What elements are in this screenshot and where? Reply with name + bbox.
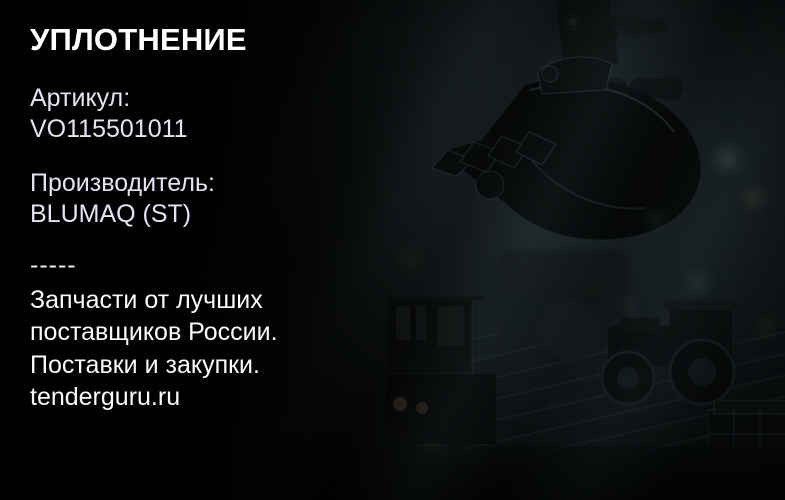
machinery-silhouette <box>708 400 785 500</box>
tagline-line: Запчасти от лучших <box>30 284 450 317</box>
divider: ----- <box>30 253 450 278</box>
tagline: Запчасти от лучших поставщиков России. П… <box>30 284 450 414</box>
article-label: Артикул: <box>30 83 450 115</box>
bokeh-light <box>688 272 708 292</box>
card-content: УПЛОТНЕНИЕ Артикул: VO115501011 Производ… <box>30 24 450 414</box>
bokeh-light <box>648 212 662 226</box>
manufacturer-field: Производитель: BLUMAQ (ST) <box>30 168 450 231</box>
bokeh-light <box>716 148 738 170</box>
tagline-line: поставщиков России. <box>30 316 450 349</box>
machinery-silhouette <box>0 446 785 500</box>
excavator-bucket-icon <box>430 0 760 260</box>
manufacturer-label: Производитель: <box>30 168 450 200</box>
page-title: УПЛОТНЕНИЕ <box>30 24 450 57</box>
article-value: VO115501011 <box>30 114 450 146</box>
wheel-loader-wheel <box>540 300 600 360</box>
product-banner-card: УПЛОТНЕНИЕ Артикул: VO115501011 Производ… <box>0 0 785 500</box>
manufacturer-value: BLUMAQ (ST) <box>30 199 450 231</box>
site-url[interactable]: tenderguru.ru <box>30 381 450 414</box>
bokeh-light <box>760 320 772 332</box>
bokeh-light <box>746 190 762 206</box>
article-field: Артикул: VO115501011 <box>30 83 450 146</box>
tagline-line: Поставки и закупки. <box>30 349 450 382</box>
